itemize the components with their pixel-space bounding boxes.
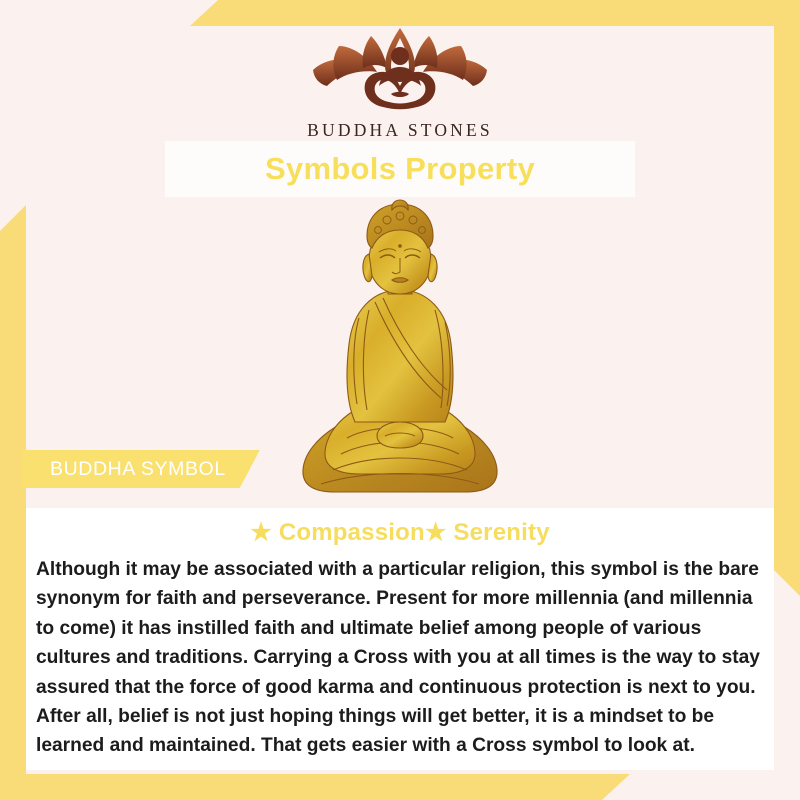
brand-wordmark: BUDDHA STONES <box>0 120 800 141</box>
content-paragraph: Although it may be associated with a par… <box>36 555 764 761</box>
decorative-band-top <box>190 0 800 26</box>
content-subtitle: ★ Compassion★ Serenity <box>26 518 774 547</box>
brand-logo: BUDDHA STONES <box>0 24 800 141</box>
page-title: Symbols Property <box>265 151 535 187</box>
lotus-meditation-icon <box>305 24 495 114</box>
section-ribbon-label: BUDDHA SYMBOL <box>50 458 226 481</box>
content-panel: ★ Compassion★ Serenity Although it may b… <box>26 508 774 770</box>
decorative-band-bottom <box>0 774 630 800</box>
golden-seated-buddha-illustration <box>295 198 505 498</box>
title-band: Symbols Property <box>165 141 635 197</box>
poster-canvas: BUDDHA STONES Symbols Property <box>0 0 800 800</box>
section-ribbon: BUDDHA SYMBOL <box>22 450 260 488</box>
